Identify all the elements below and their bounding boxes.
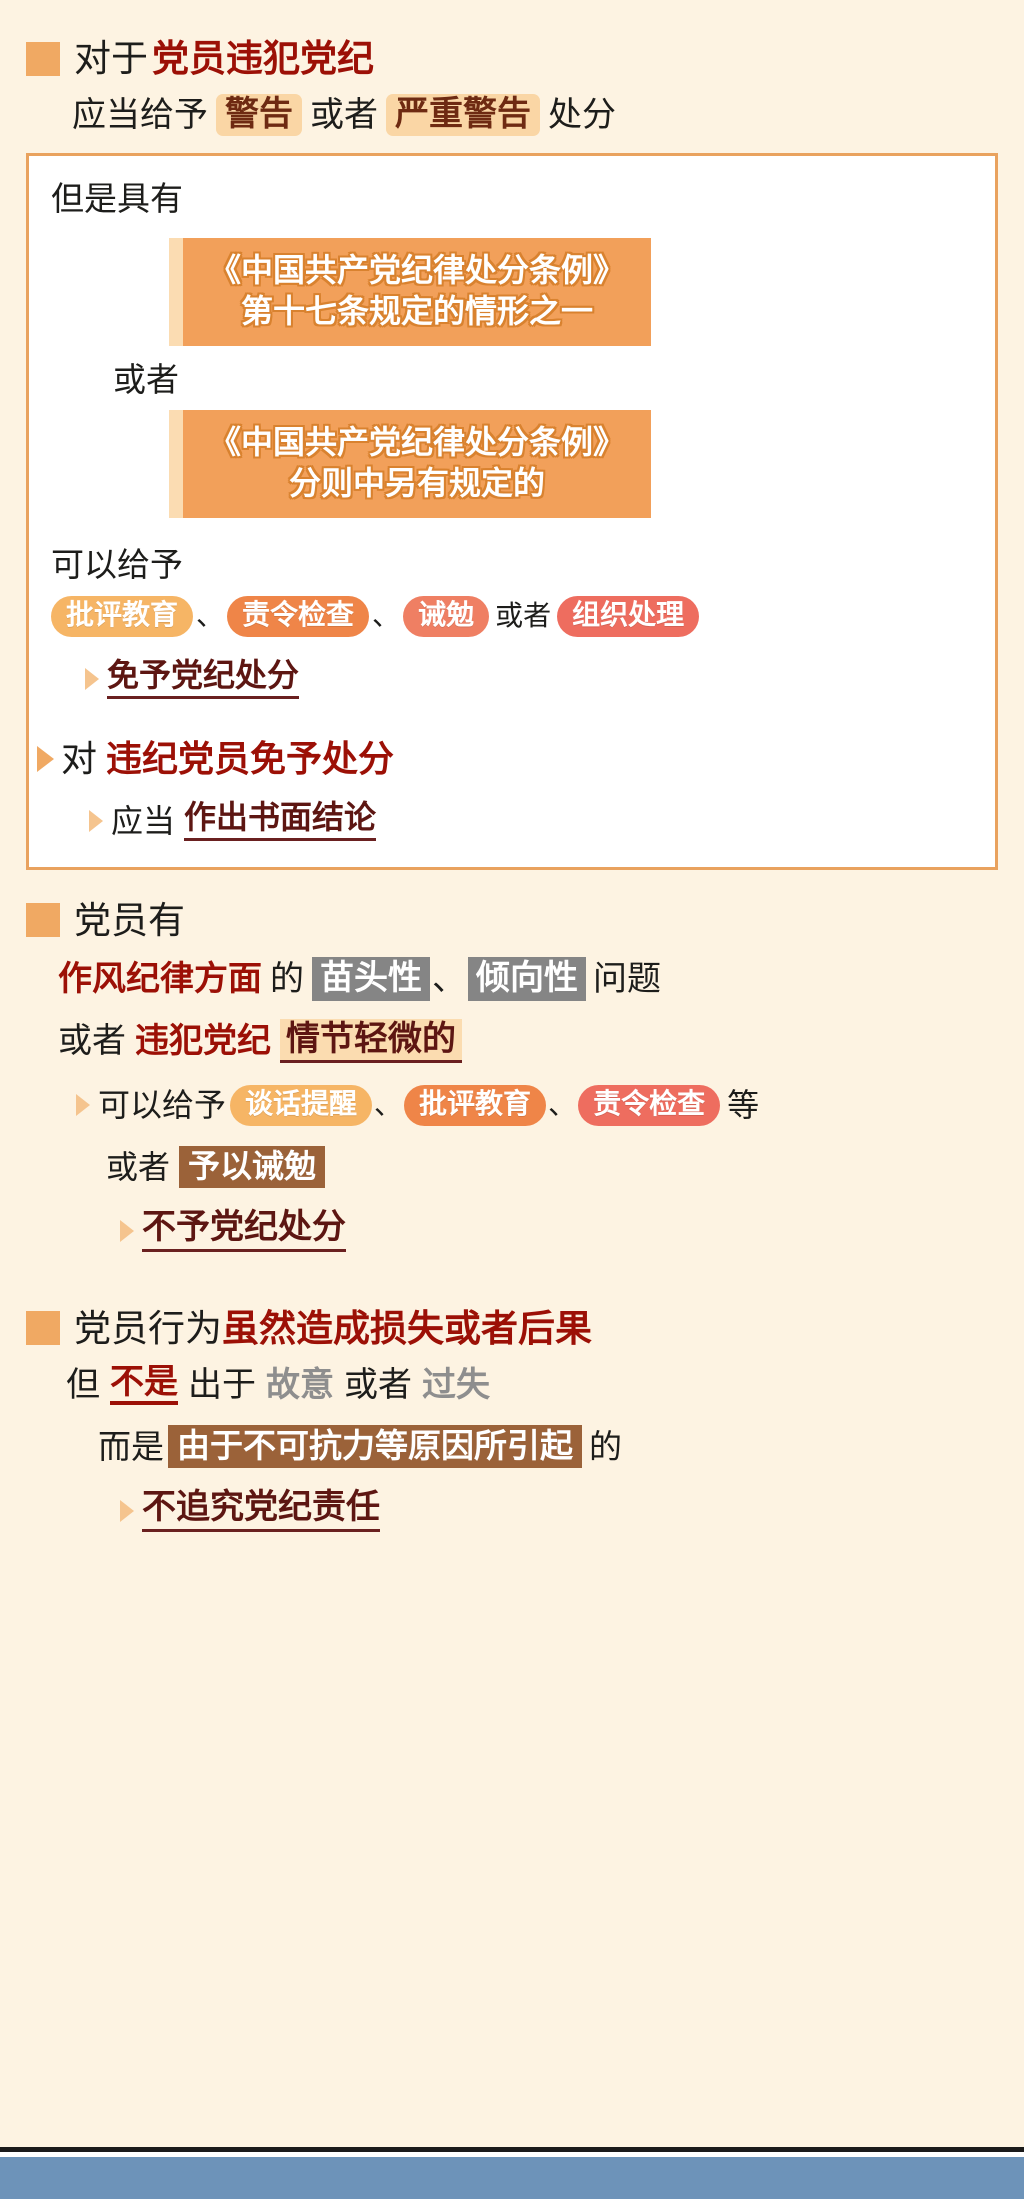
gray-tag-tendency-signs: 苗头性 bbox=[312, 957, 430, 1001]
section-3-line2-d: 故意 bbox=[266, 1368, 334, 1402]
panel-rule-prefix: 对 bbox=[61, 741, 97, 777]
section-2-outcome-text: 不予党纪处分 bbox=[142, 1210, 346, 1252]
panel-may-grant: 可以给予 bbox=[51, 548, 973, 581]
section-2-line3: 或者 违犯党纪 情节轻微的 bbox=[58, 1019, 998, 1063]
section-marker-square bbox=[26, 42, 60, 76]
section-2-line4-lead: 可以给予 bbox=[98, 1089, 226, 1121]
pill-admonishment[interactable]: 诫勉 bbox=[403, 596, 489, 637]
panel-may-grant-text: 可以给予 bbox=[51, 548, 183, 581]
section-2-outcome-row: 不予党纪处分 bbox=[120, 1210, 998, 1252]
section-1-line2-a: 应当给予 bbox=[72, 98, 208, 132]
quote-block-2-line2: 分则中另有规定的 bbox=[209, 463, 625, 504]
section-2-pill-sep-1: 、 bbox=[374, 1091, 402, 1119]
section-2-line2-b: 的 bbox=[270, 962, 304, 996]
section-2-line3-b: 违犯党纪 bbox=[135, 1024, 271, 1058]
panel-intro-text: 但是具有 bbox=[51, 182, 183, 215]
pill-sep-1: 、 bbox=[196, 602, 224, 630]
quote-block-2-wrap: 《中国共产党纪律处分条例》 分则中另有规定的 bbox=[179, 410, 973, 518]
panel-outcome-text: 免予党纪处分 bbox=[107, 659, 299, 699]
section-2-line2-a: 作风纪律方面 bbox=[58, 962, 262, 996]
section-2: 党员有 作风纪律方面 的 苗头性 、 倾向性 问题 或者 违犯党纪 情节轻微的 … bbox=[26, 902, 998, 1252]
section-1-heading-emphasis: 党员违犯党纪 bbox=[152, 40, 374, 77]
pill-sep-2: 、 bbox=[372, 602, 400, 630]
pill-criticism-education[interactable]: 批评教育 bbox=[51, 596, 193, 637]
brown-tag-admonish: 予以诫勉 bbox=[179, 1146, 325, 1188]
footer-bar bbox=[0, 2157, 1024, 2199]
section-marker-square-3 bbox=[26, 1311, 60, 1345]
section-2-line2-c: 问题 bbox=[593, 962, 661, 996]
panel-or-word: 或者 bbox=[495, 602, 551, 630]
section-1-line2: 应当给予 警告 或者 严重警告 处分 bbox=[72, 94, 998, 136]
panel-rule-emphasis: 违纪党员免予处分 bbox=[106, 741, 394, 777]
section-3-outcome-row: 不追究党纪责任 bbox=[120, 1490, 998, 1532]
section-1-line2-b: 或者 bbox=[310, 98, 378, 132]
section-2-line3-a: 或者 bbox=[58, 1024, 126, 1058]
pill-criticism-education-2[interactable]: 批评教育 bbox=[404, 1085, 546, 1126]
section-3: 党员行为 虽然造成损失或者后果 但 不是 出于 故意 或者 过失 而是 由于不可… bbox=[26, 1310, 998, 1532]
triangle-bullet-large-icon bbox=[37, 746, 54, 772]
tag-minor-circumstances: 情节轻微的 bbox=[280, 1019, 462, 1063]
section-3-line2-f: 过失 bbox=[422, 1368, 490, 1402]
triangle-bullet-icon-4 bbox=[120, 1220, 134, 1242]
pill-talk-reminder[interactable]: 谈话提醒 bbox=[230, 1085, 372, 1126]
quote-block-1: 《中国共产党纪律处分条例》 第十七条规定的情形之一 bbox=[183, 238, 651, 346]
section-3-line2-a: 但 bbox=[66, 1368, 100, 1402]
brown-tag-force-majeure: 由于不可抗力等原因所引起 bbox=[168, 1425, 582, 1468]
section-3-line2-b: 不是 bbox=[110, 1365, 178, 1405]
section-3-heading-prefix: 党员行为 bbox=[74, 1310, 222, 1347]
section-3-heading-emphasis: 虽然造成损失或者后果 bbox=[222, 1310, 592, 1347]
section-3-line3: 而是 由于不可抗力等原因所引起 的 bbox=[98, 1425, 998, 1468]
section-3-line2: 但 不是 出于 故意 或者 过失 bbox=[66, 1365, 998, 1405]
section-1-heading-prefix: 对于 bbox=[74, 40, 148, 77]
section-2-heading: 党员有 bbox=[26, 902, 998, 939]
section-3-heading: 党员行为 虽然造成损失或者后果 bbox=[26, 1310, 998, 1347]
panel-rule-sub-a: 应当 bbox=[111, 805, 175, 837]
panel-connector-text: 或者 bbox=[113, 363, 179, 396]
triangle-bullet-icon-3 bbox=[76, 1094, 90, 1116]
section-1-panel: 但是具有 《中国共产党纪律处分条例》 第十七条规定的情形之一 或者 《中国共产党… bbox=[26, 153, 998, 870]
quote-block-1-wrap: 《中国共产党纪律处分条例》 第十七条规定的情形之一 bbox=[179, 238, 973, 346]
section-2-line4: 可以给予 谈话提醒 、 批评教育 、 责令检查 等 bbox=[76, 1085, 998, 1126]
section-3-line2-c: 出于 bbox=[188, 1368, 256, 1402]
triangle-bullet-icon-5 bbox=[120, 1500, 134, 1522]
panel-measure-pills: 批评教育 、 责令检查 、 诫勉 或者 组织处理 bbox=[51, 596, 973, 637]
content-inner: 对于 党员违犯党纪 应当给予 警告 或者 严重警告 处分 但是具有 《中国共产党… bbox=[0, 0, 1024, 1532]
panel-rule-sub-row: 应当 作出书面结论 bbox=[89, 801, 973, 841]
panel-outcome-row: 免予党纪处分 bbox=[85, 659, 973, 699]
section-2-line2: 作风纪律方面 的 苗头性 、 倾向性 问题 bbox=[58, 957, 998, 1001]
section-3-line3-c: 的 bbox=[589, 1430, 622, 1463]
pill-order-inspection[interactable]: 责令检查 bbox=[227, 596, 369, 637]
section-1-line2-c: 处分 bbox=[548, 98, 616, 132]
quote-block-2-line1: 《中国共产党纪律处分条例》 bbox=[209, 422, 625, 463]
section-2-heading-text: 党员有 bbox=[74, 902, 185, 939]
pill-organizational-handling[interactable]: 组织处理 bbox=[557, 596, 699, 637]
section-2-line5-a: 或者 bbox=[106, 1151, 170, 1183]
infographic-page: 对于 党员违犯党纪 应当给予 警告 或者 严重警告 处分 但是具有 《中国共产党… bbox=[0, 0, 1024, 2199]
section-2-line5: 或者 予以诫勉 bbox=[106, 1146, 998, 1188]
section-marker-square-2 bbox=[26, 903, 60, 937]
section-3-outcome-text: 不追究党纪责任 bbox=[142, 1490, 380, 1532]
section-3-line2-e: 或者 bbox=[344, 1368, 412, 1402]
panel-rule-row: 对 违纪党员免予处分 bbox=[37, 741, 973, 777]
quote-block-2: 《中国共产党纪律处分条例》 分则中另有规定的 bbox=[183, 410, 651, 518]
tag-warning: 警告 bbox=[216, 94, 302, 136]
panel-connector: 或者 bbox=[113, 363, 973, 396]
panel-intro: 但是具有 bbox=[51, 182, 973, 215]
section-2-line2-sep: 、 bbox=[432, 962, 466, 996]
section-2-line4-tail: 等 bbox=[727, 1089, 759, 1121]
section-1: 对于 党员违犯党纪 应当给予 警告 或者 严重警告 处分 但是具有 《中国共产党… bbox=[26, 40, 998, 870]
panel-rule-sub-b: 作出书面结论 bbox=[184, 801, 376, 841]
section-1-heading: 对于 党员违犯党纪 bbox=[26, 40, 998, 77]
pill-order-inspection-2[interactable]: 责令检查 bbox=[578, 1085, 720, 1126]
tag-serious-warning: 严重警告 bbox=[386, 94, 540, 136]
section-2-pill-sep-2: 、 bbox=[548, 1091, 576, 1119]
triangle-bullet-icon bbox=[85, 668, 99, 690]
triangle-bullet-icon-2 bbox=[89, 810, 103, 832]
quote-block-1-line1: 《中国共产党纪律处分条例》 bbox=[209, 250, 625, 291]
quote-block-1-line2: 第十七条规定的情形之一 bbox=[209, 291, 625, 332]
section-3-line3-a: 而是 bbox=[98, 1430, 164, 1463]
gray-tag-tendency: 倾向性 bbox=[468, 957, 586, 1001]
